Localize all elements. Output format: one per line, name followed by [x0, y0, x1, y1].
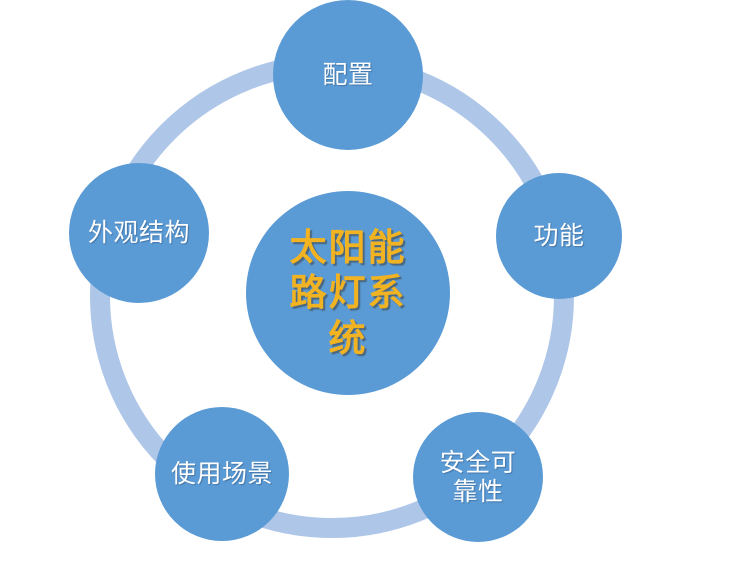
node-safety[interactable]: 安全可靠性 [413, 412, 543, 542]
node-config-label: 配置 [293, 60, 403, 90]
node-scenario[interactable]: 使用场景 [155, 407, 289, 541]
node-config[interactable]: 配置 [273, 0, 423, 150]
node-safety-label: 安全可靠性 [430, 448, 526, 507]
node-function[interactable]: 功能 [496, 173, 622, 299]
radial-diagram-canvas: 外观结构 使用场景 安全可靠性 功能 太阳能路灯系统 配置 [0, 0, 748, 565]
node-function-label: 功能 [504, 221, 614, 251]
node-appearance[interactable]: 外观结构 [69, 163, 209, 303]
node-scenario-label: 使用场景 [163, 459, 281, 489]
node-appearance-label: 外观结构 [87, 218, 191, 248]
node-center-system[interactable]: 太阳能路灯系统 [246, 191, 450, 395]
node-center-label: 太阳能路灯系统 [283, 225, 413, 360]
